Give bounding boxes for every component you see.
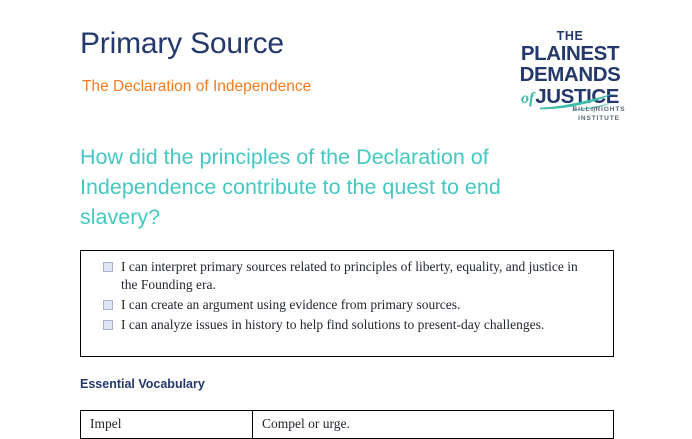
list-item[interactable]: I can analyze issues in history to help …	[103, 316, 595, 334]
objective-label: I can interpret primary sources related …	[121, 258, 595, 294]
objective-label: I can analyze issues in history to help …	[121, 316, 544, 334]
objectives-box: I can interpret primary sources related …	[80, 250, 614, 357]
objectives-list: I can interpret primary sources related …	[103, 258, 595, 336]
logo-bri-rights: RIGHTS	[596, 106, 626, 113]
page-subtitle: The Declaration of Independence	[82, 78, 311, 96]
logo-institute-name: BILLofRIGHTS INSTITUTE	[566, 106, 632, 124]
logo-line-demands: DEMANDS	[508, 65, 632, 86]
logo-word-of: of	[521, 90, 535, 107]
vocabulary-definition: Compel or urge.	[253, 411, 614, 439]
document-page: Primary Source The Declaration of Indepe…	[0, 0, 692, 439]
logo-line-the: THE	[508, 30, 632, 43]
logo-bri-bill: BILL	[572, 106, 590, 113]
checkbox-icon[interactable]	[103, 300, 113, 310]
page-title: Primary Source	[80, 27, 284, 61]
list-item[interactable]: I can interpret primary sources related …	[103, 258, 595, 294]
checkbox-icon[interactable]	[103, 320, 113, 330]
checkbox-icon[interactable]	[103, 262, 113, 272]
list-item[interactable]: I can create an argument using evidence …	[103, 296, 595, 314]
vocabulary-term: Impel	[81, 411, 253, 439]
logo-line-plainest: PLAINEST	[508, 44, 632, 65]
table-row: Impel Compel or urge.	[81, 411, 614, 439]
logo-bri-line-1: BILLofRIGHTS	[566, 106, 632, 115]
bill-of-rights-institute-logo: THE PLAINEST DEMANDS ofJUSTICE BILLofRIG…	[508, 28, 632, 126]
essential-question: How did the principles of the Declaratio…	[80, 142, 580, 232]
vocabulary-table: Impel Compel or urge.	[80, 410, 614, 439]
logo-bri-line-2: INSTITUTE	[566, 115, 632, 124]
document-header: Primary Source The Declaration of Indepe…	[0, 0, 692, 135]
essential-vocabulary-heading: Essential Vocabulary	[80, 377, 205, 391]
objective-label: I can create an argument using evidence …	[121, 296, 460, 314]
